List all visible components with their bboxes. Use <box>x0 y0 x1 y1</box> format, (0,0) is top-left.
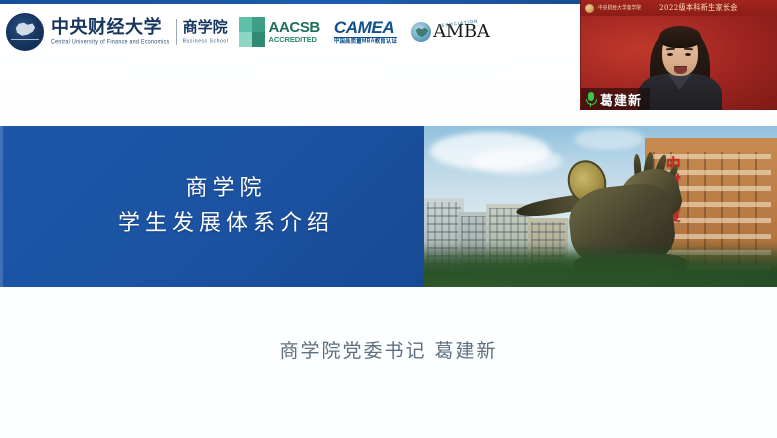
school-name-cn: 商学院 <box>183 20 229 36</box>
camea-accreditation-logo: CAMEA 中国高质量MBA教育认证 <box>334 19 397 45</box>
video-participant-tile[interactable]: 中央财经大学商学院 2022级本科新生家长会 葛建新 <box>580 0 777 110</box>
banner-event-title: 2022级本科新生家长会 <box>659 2 738 13</box>
university-name-en: Central University of Finance and Econom… <box>51 39 170 46</box>
school-name-en: Business School <box>183 38 229 45</box>
aacsb-accreditation-logo: AACSB ACCREDITED <box>239 17 320 47</box>
university-crest-icon <box>6 13 44 51</box>
campus-sculpture-photo: 中财大厦 <box>424 126 777 287</box>
microphone-icon <box>586 92 595 107</box>
camea-label-primary: CAMEA <box>334 19 397 36</box>
slide-title-band: 商学院 学生发展体系介绍 <box>0 126 424 287</box>
participant-name: 葛建新 <box>600 90 642 109</box>
camea-label-secondary: 中国高质量MBA教育认证 <box>334 39 397 45</box>
photo-foliage <box>424 241 777 287</box>
amba-accreditation-logo: AMBA ASSOCIATION <box>411 22 489 42</box>
photo-cloud <box>574 128 644 150</box>
slide-title-line-1: 商学院 <box>118 172 334 206</box>
amba-globe-icon <box>411 22 431 42</box>
university-name-cn: 中央财经大学 <box>51 19 170 38</box>
banner-organization-text: 中央财经大学商学院 <box>598 4 641 12</box>
aacsb-label-primary: AACSB <box>269 20 320 35</box>
banner-crest-icon <box>585 4 594 13</box>
screen-share-view: 中央财经大学 Central University of Finance and… <box>0 0 777 438</box>
slide-title-text: 商学院 学生发展体系介绍 <box>90 172 334 240</box>
video-event-banner: 中央财经大学商学院 2022级本科新生家长会 <box>581 0 777 16</box>
aacsb-text-block: AACSB ACCREDITED <box>269 20 320 44</box>
logo-divider <box>176 19 177 45</box>
aacsb-squares-icon <box>239 17 265 47</box>
video-name-label: 葛建新 <box>581 88 650 110</box>
university-name-block: 中央财经大学 Central University of Finance and… <box>51 19 170 46</box>
slide-title-line-2: 学生发展体系介绍 <box>118 207 334 241</box>
aacsb-label-secondary: ACCREDITED <box>269 36 320 44</box>
slide-presenter-line: 商学院党委书记 葛建新 <box>0 336 777 363</box>
school-name-block: 商学院 Business School <box>183 20 229 44</box>
